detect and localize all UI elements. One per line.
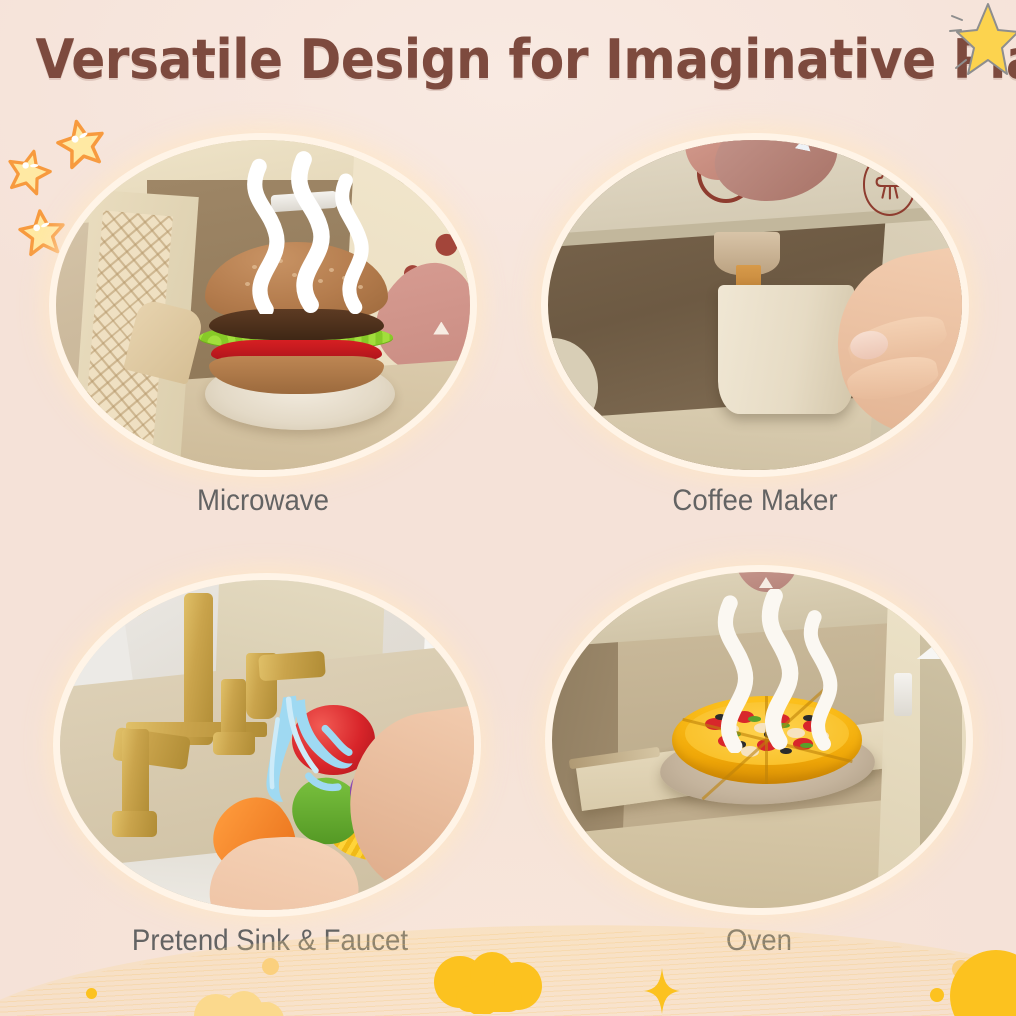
puffy-star-icon xyxy=(1,143,57,199)
feature-caption-coffee-maker: Coffee Maker xyxy=(565,484,946,518)
dot-decoration xyxy=(262,958,279,975)
burger-top-bun xyxy=(205,242,388,318)
oven-door-inner xyxy=(920,626,961,881)
feature-photo-oven[interactable] xyxy=(552,572,966,908)
sparkle-star-icon xyxy=(948,0,1016,86)
toy-pizza xyxy=(672,696,862,783)
faucet-valve-left xyxy=(122,729,149,825)
faucet-base-right xyxy=(213,732,254,755)
toy-burger xyxy=(197,242,396,400)
oven-latch xyxy=(894,673,913,717)
panel-dot-icon xyxy=(435,233,458,256)
faucet-base-left xyxy=(112,811,158,837)
photo-sink-faucet-scene xyxy=(60,580,474,910)
marketing-banner: Versatile Design for Imaginative Play xyxy=(0,0,1016,1016)
cloud-icon xyxy=(430,952,546,1014)
steam-circle-icon xyxy=(863,153,917,216)
faucet-handle-right[interactable] xyxy=(258,650,326,681)
photo-microwave-scene xyxy=(56,140,470,470)
photo-oven-scene xyxy=(552,572,966,908)
cloud-icon xyxy=(190,990,286,1016)
photo-coffee-maker-scene xyxy=(548,140,962,470)
dot-decoration xyxy=(86,988,97,999)
feature-caption-microwave: Microwave xyxy=(73,484,454,518)
dot-decoration xyxy=(930,988,944,1002)
four-point-sparkle-icon xyxy=(644,968,680,1014)
feature-photo-coffee-maker[interactable] xyxy=(548,140,962,470)
feature-photo-microwave[interactable] xyxy=(56,140,470,470)
toy-coffee-cup[interactable] xyxy=(718,285,855,414)
feature-photo-sink-faucet[interactable] xyxy=(60,580,474,910)
page-title: Versatile Design for Imaginative Play xyxy=(36,28,981,91)
burger-patty xyxy=(209,309,384,341)
burger-bottom-bun xyxy=(209,356,384,394)
